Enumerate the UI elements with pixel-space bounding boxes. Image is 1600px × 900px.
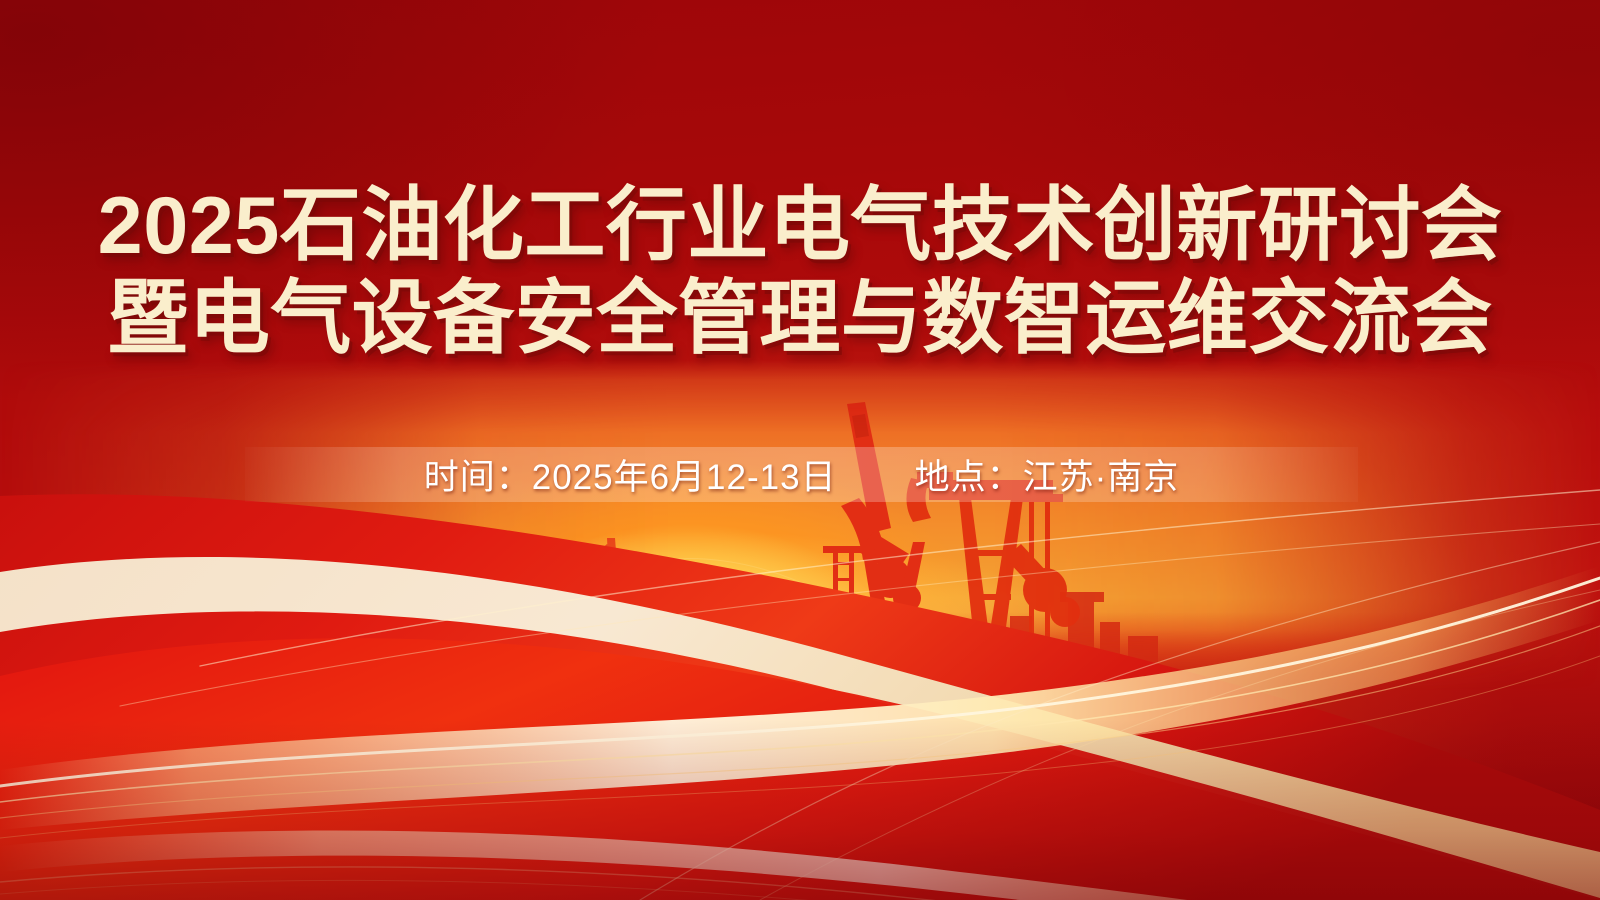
event-location: 地点：江苏·南京 (915, 449, 1180, 500)
title-block: 2025石油化工行业电气技术创新研讨会 暨电气设备安全管理与数智运维交流会 (0, 186, 1600, 360)
title-line-2: 暨电气设备安全管理与数智运维交流会 (0, 279, 1600, 360)
event-info-bar: 时间：2025年6月12-13日 地点：江苏·南京 (245, 447, 1358, 502)
ribbon-waves (0, 480, 1600, 900)
conference-banner: 2025石油化工行业电气技术创新研讨会 暨电气设备安全管理与数智运维交流会 时间… (0, 0, 1600, 900)
event-date: 时间：2025年6月12-13日 (424, 449, 837, 500)
title-line-1: 2025石油化工行业电气技术创新研讨会 (0, 186, 1600, 267)
